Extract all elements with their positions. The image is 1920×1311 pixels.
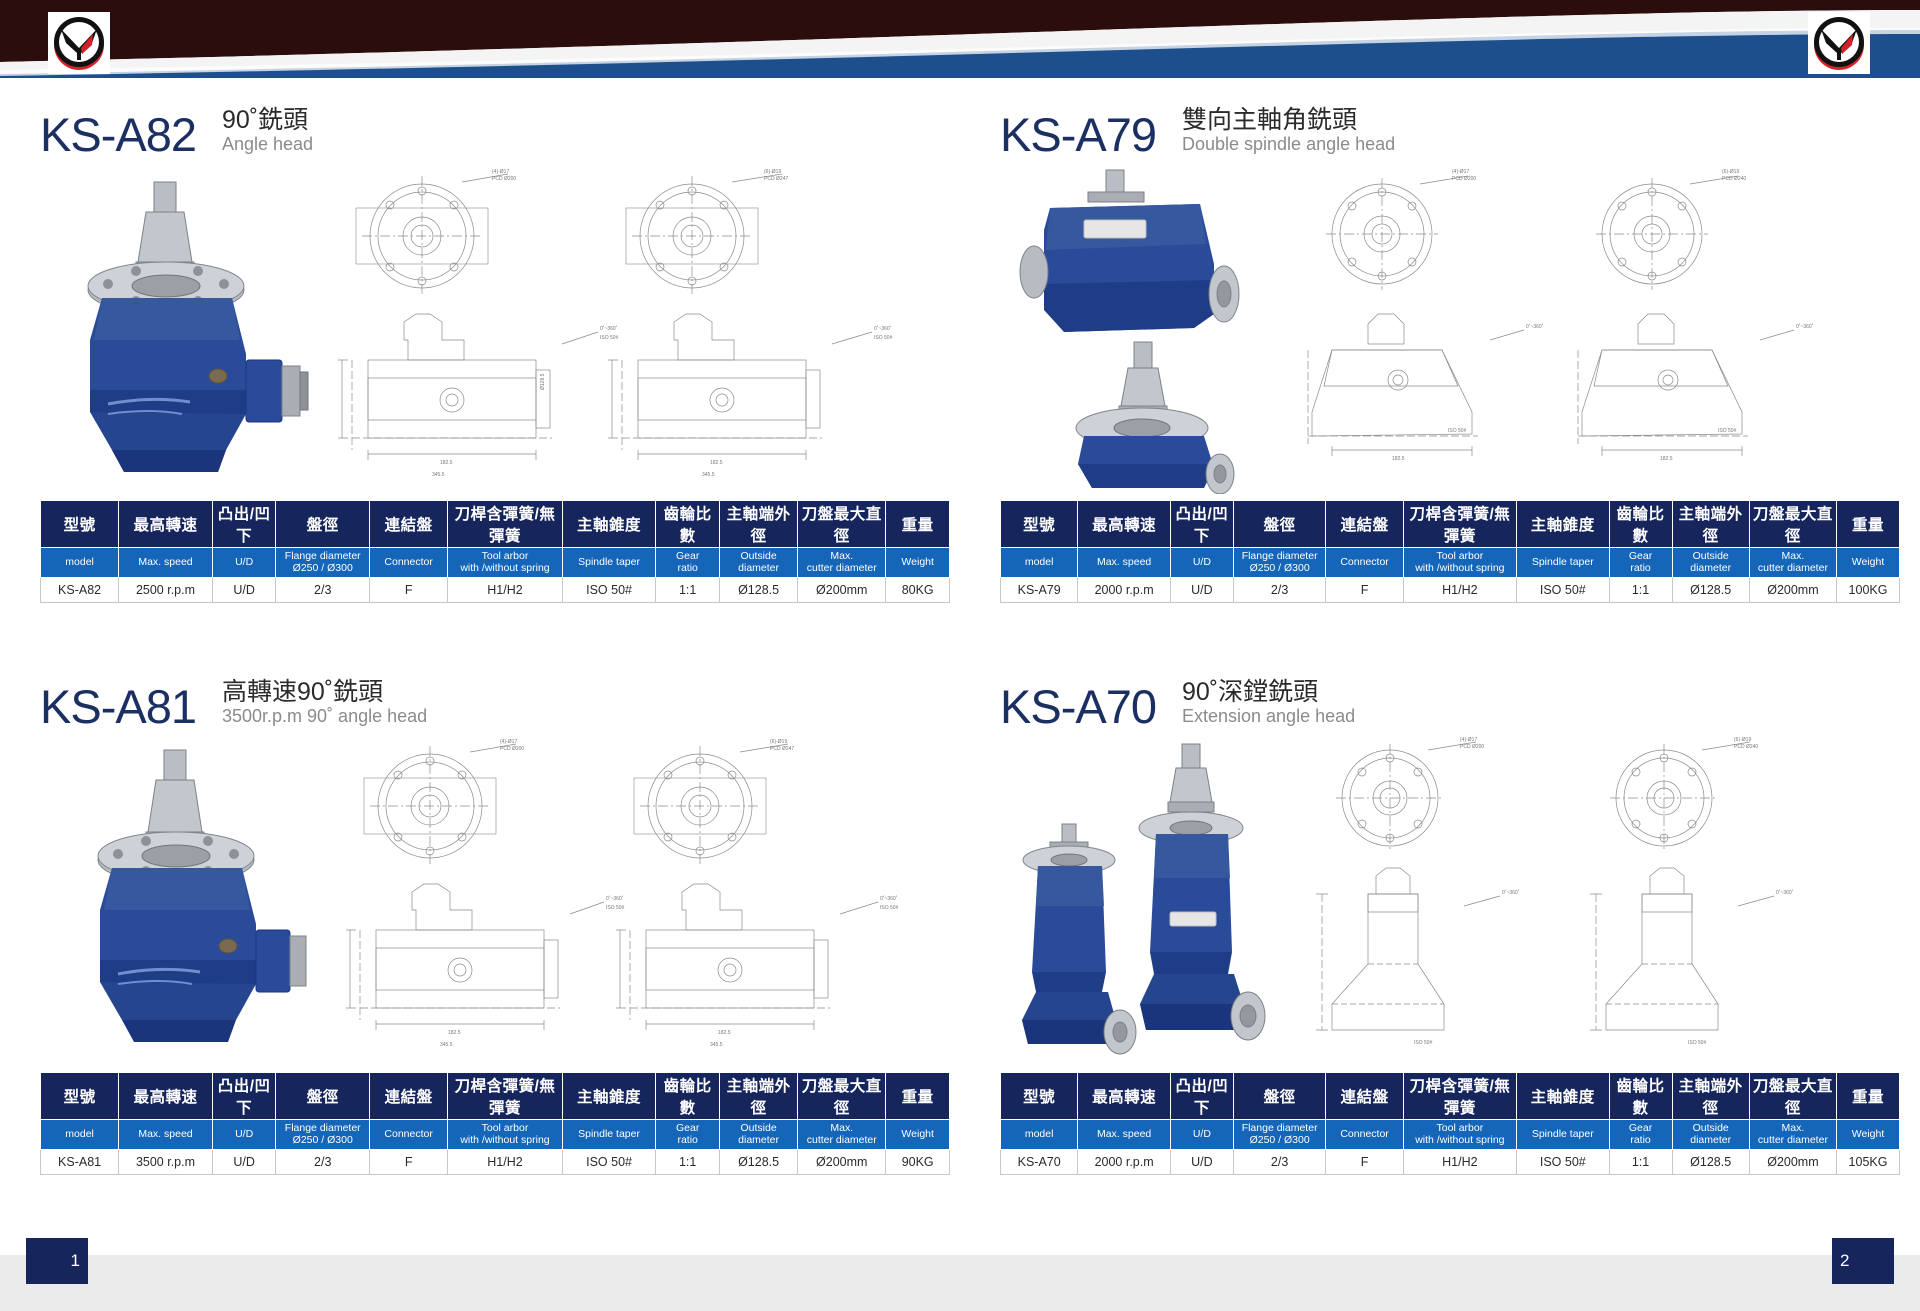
spec-th-en-gear: Gearratio [656, 548, 720, 578]
page-footer-bar [0, 1255, 1920, 1311]
spec-value-row: KS-A82 2500 r.p.m U/D 2/3 F H1/H2 ISO 50… [41, 578, 950, 603]
spec-val-model: KS-A81 [41, 1150, 119, 1175]
product-title-en: Double spindle angle head [1182, 134, 1395, 156]
spec-th-outside: 主軸端外徑 [720, 501, 798, 548]
spec-th-en-speed: Max. speed [1078, 548, 1171, 578]
product-title-row: KS-A70 90˚深鏜銑頭 Extension angle head [1000, 668, 1900, 730]
spec-val-arbor: H1/H2 [1403, 1150, 1516, 1175]
product-title-en: 3500r.p.m 90˚ angle head [222, 706, 427, 728]
spec-th-arbor: 刀桿含彈簧/無彈簧 [448, 501, 563, 548]
page-number-right: 2 [1832, 1238, 1894, 1284]
spec-val-cutter: Ø200mm [798, 1150, 886, 1175]
spec-th-en-speed: Max. speed [1078, 1120, 1171, 1150]
spec-th-en-outside: Outsidediameter [1672, 1120, 1749, 1150]
spec-th-taper: 主軸錐度 [1517, 501, 1610, 548]
product-model-code: KS-A81 [40, 683, 196, 730]
spec-th-model: 型號 [1001, 501, 1078, 548]
spec-header-en: model Max. speed U/D Flange diameterØ250… [41, 548, 950, 578]
spec-th-en-arbor: Tool arborwith /without spring [448, 548, 563, 578]
spec-val-arbor: H1/H2 [448, 578, 563, 603]
spec-th-en-model: model [41, 548, 119, 578]
spec-th-connector: 連結盤 [370, 501, 448, 548]
spec-th-en-ud: U/D [1170, 548, 1233, 578]
spec-th-en-gear: Gearratio [1609, 548, 1672, 578]
spec-th-cutter: 刀盤最大直徑 [1749, 1073, 1836, 1120]
spec-th-en-taper: Spindle taper [562, 548, 656, 578]
product-panel-ks-a81: KS-A81 高轉速90˚銑頭 3500r.p.m 90˚ angle head [40, 668, 950, 1175]
svg-text:(4)-Ø17: (4)-Ø17 [1460, 737, 1477, 743]
svg-text:0˚~360˚: 0˚~360˚ [880, 895, 898, 902]
product-photo-ks-a70 [1010, 736, 1270, 1066]
product-photo-ks-a81 [50, 736, 310, 1066]
spec-val-connector: F [1326, 1150, 1403, 1175]
spec-th-en-gear: Gearratio [656, 1120, 720, 1150]
svg-text:PCD Ø200: PCD Ø200 [492, 176, 516, 182]
product-media: (4)-Ø17PCD Ø200 (6)-Ø19PCD Ø247 182.5345… [40, 164, 950, 494]
svg-text:182.5: 182.5 [440, 460, 453, 466]
spec-th-en-arbor: Tool arborwith /without spring [1403, 1120, 1516, 1150]
svg-text:ISO 50#: ISO 50# [874, 335, 893, 341]
spec-th-taper: 主軸錐度 [562, 1073, 656, 1120]
spec-val-taper: ISO 50# [562, 578, 656, 603]
company-logo-secondary [1808, 12, 1870, 74]
spec-header-en: model Max. speed U/D Flange diameterØ250… [1001, 1120, 1900, 1150]
spec-val-flange: 2/3 [1233, 578, 1326, 603]
spec-val-speed: 2000 r.p.m [1078, 578, 1171, 603]
svg-text:PCD Ø247: PCD Ø247 [770, 746, 794, 752]
spec-table-ks-a81: 型號 最高轉速 凸出/凹下 盤徑 連結盤 刀桿含彈簧/無彈簧 主軸錐度 齒輪比數… [40, 1072, 950, 1175]
spec-val-taper: ISO 50# [562, 1150, 656, 1175]
spec-th-arbor: 刀桿含彈簧/無彈簧 [1403, 501, 1516, 548]
product-photo-ks-a79 [1010, 164, 1270, 494]
spec-val-flange: 2/3 [1233, 1150, 1326, 1175]
spec-th-en-outside: Outsidediameter [720, 1120, 798, 1150]
spec-th-en-connector: Connector [1326, 1120, 1403, 1150]
spec-val-outside: Ø128.5 [720, 1150, 798, 1175]
spec-th-flange: 盤徑 [276, 501, 370, 548]
technical-drawing-ks-a79: (4)-Ø17PCD Ø200 (6)-Ø19PCD Ø240 182.5182… [1272, 164, 1900, 494]
svg-text:0˚~360˚: 0˚~360˚ [600, 325, 618, 332]
spec-val-gear: 1:1 [1609, 1150, 1672, 1175]
spec-th-gear: 齒輪比數 [656, 501, 720, 548]
spec-th-en-model: model [1001, 548, 1078, 578]
spec-val-arbor: H1/H2 [448, 1150, 563, 1175]
spec-val-speed: 2500 r.p.m [119, 578, 213, 603]
svg-text:182.5: 182.5 [710, 460, 723, 466]
product-title-row: KS-A82 90˚銑頭 Angle head [40, 96, 950, 158]
spec-th-en-cutter: Max.cutter diameter [798, 1120, 886, 1150]
svg-text:(6)-Ø19: (6)-Ø19 [1734, 737, 1751, 743]
spec-th-en-ud: U/D [212, 548, 276, 578]
spec-val-outside: Ø128.5 [720, 578, 798, 603]
spec-th-en-connector: Connector [1326, 548, 1403, 578]
svg-text:0˚~360˚: 0˚~360˚ [1526, 323, 1544, 330]
spec-th-en-arbor: Tool arborwith /without spring [448, 1120, 563, 1150]
spec-th-model: 型號 [1001, 1073, 1078, 1120]
svg-text:(6)-Ø19: (6)-Ø19 [764, 169, 781, 175]
svg-text:0˚~360˚: 0˚~360˚ [1502, 889, 1520, 896]
spec-th-flange: 盤徑 [1233, 501, 1326, 548]
spec-th-en-arbor: Tool arborwith /without spring [1403, 548, 1516, 578]
svg-text:182.5: 182.5 [448, 1030, 461, 1036]
spec-header-cn: 型號 最高轉速 凸出/凹下 盤徑 連結盤 刀桿含彈簧/無彈簧 主軸錐度 齒輪比數… [41, 1073, 950, 1120]
product-panel-ks-a79: KS-A79 雙向主軸角銑頭 Double spindle angle head [1000, 96, 1900, 603]
spec-val-model: KS-A79 [1001, 578, 1078, 603]
spec-value-row: KS-A70 2000 r.p.m U/D 2/3 F H1/H2 ISO 50… [1001, 1150, 1900, 1175]
spec-th-weight: 重量 [886, 1073, 950, 1120]
product-media: (4)-Ø17PCD Ø200 (6)-Ø19PCD Ø240 182.5182… [1000, 164, 1900, 494]
product-media: (4)-Ø17PCD Ø200 (6)-Ø19PCD Ø247 182.5345… [40, 736, 950, 1066]
spec-th-weight: 重量 [1837, 501, 1900, 548]
svg-text:345.5: 345.5 [710, 1042, 723, 1048]
spec-val-model: KS-A70 [1001, 1150, 1078, 1175]
spec-th-cutter: 刀盤最大直徑 [798, 501, 886, 548]
svg-text:345.5: 345.5 [440, 1042, 453, 1048]
spec-th-en-model: model [41, 1120, 119, 1150]
product-title-cn: 高轉速90˚銑頭 [222, 678, 427, 706]
svg-text:ISO 50#: ISO 50# [880, 905, 899, 911]
spec-val-outside: Ø128.5 [1672, 1150, 1749, 1175]
svg-text:ISO 50#: ISO 50# [600, 335, 619, 341]
spec-val-connector: F [370, 578, 448, 603]
spec-th-en-cutter: Max.cutter diameter [798, 548, 886, 578]
spec-th-model: 型號 [41, 1073, 119, 1120]
spec-th-en-flange: Flange diameterØ250 / Ø300 [1233, 548, 1326, 578]
spec-th-speed: 最高轉速 [1078, 1073, 1171, 1120]
svg-text:PCD Ø200: PCD Ø200 [500, 746, 524, 752]
spec-th-gear: 齒輪比數 [1609, 501, 1672, 548]
spec-table-ks-a82: 型號 最高轉速 凸出/凹下 盤徑 連結盤 刀桿含彈簧/無彈簧 主軸錐度 齒輪比數… [40, 500, 950, 603]
spec-val-gear: 1:1 [1609, 578, 1672, 603]
spec-th-arbor: 刀桿含彈簧/無彈簧 [448, 1073, 563, 1120]
spec-th-en-flange: Flange diameterØ250 / Ø300 [1233, 1120, 1326, 1150]
product-title-cn: 90˚深鏜銑頭 [1182, 678, 1355, 706]
svg-text:0˚~360˚: 0˚~360˚ [1776, 889, 1794, 896]
svg-text:0˚~360˚: 0˚~360˚ [606, 895, 624, 902]
spec-header-cn: 型號 最高轉速 凸出/凹下 盤徑 連結盤 刀桿含彈簧/無彈簧 主軸錐度 齒輪比數… [1001, 501, 1900, 548]
spec-val-speed: 3500 r.p.m [119, 1150, 213, 1175]
spec-val-arbor: H1/H2 [1403, 578, 1516, 603]
svg-text:ISO 50#: ISO 50# [1718, 428, 1737, 434]
svg-text:182.5: 182.5 [718, 1030, 731, 1036]
svg-text:ISO 50#: ISO 50# [1448, 428, 1467, 434]
spec-val-taper: ISO 50# [1517, 578, 1610, 603]
svg-text:ISO 50#: ISO 50# [1688, 1040, 1707, 1046]
spec-th-ud: 凸出/凹下 [212, 1073, 276, 1120]
product-title-cn: 90˚銑頭 [222, 106, 313, 134]
spec-val-ud: U/D [212, 1150, 276, 1175]
spec-th-en-taper: Spindle taper [1517, 548, 1610, 578]
spec-val-weight: 90KG [886, 1150, 950, 1175]
spec-val-gear: 1:1 [656, 1150, 720, 1175]
svg-text:(4)-Ø17: (4)-Ø17 [500, 739, 517, 745]
spec-val-weight: 100KG [1837, 578, 1900, 603]
spec-th-en-model: model [1001, 1120, 1078, 1150]
spec-th-en-cutter: Max.cutter diameter [1749, 548, 1836, 578]
page-header-band [0, 0, 1920, 78]
spec-th-outside: 主軸端外徑 [1672, 1073, 1749, 1120]
spec-th-en-outside: Outsidediameter [720, 548, 798, 578]
spec-th-taper: 主軸錐度 [1517, 1073, 1610, 1120]
spec-th-flange: 盤徑 [1233, 1073, 1326, 1120]
product-title-en: Extension angle head [1182, 706, 1355, 728]
svg-text:ISO 50#: ISO 50# [606, 905, 625, 911]
svg-text:(6)-Ø19: (6)-Ø19 [1722, 169, 1739, 175]
spec-th-en-cutter: Max.cutter diameter [1749, 1120, 1836, 1150]
spec-th-arbor: 刀桿含彈簧/無彈簧 [1403, 1073, 1516, 1120]
spec-th-taper: 主軸錐度 [562, 501, 656, 548]
spec-val-weight: 105KG [1837, 1150, 1900, 1175]
spec-th-en-taper: Spindle taper [1517, 1120, 1610, 1150]
svg-text:ISO 50#: ISO 50# [1414, 1040, 1433, 1046]
spec-val-speed: 2000 r.p.m [1078, 1150, 1171, 1175]
spec-th-model: 型號 [41, 501, 119, 548]
svg-text:(4)-Ø17: (4)-Ø17 [492, 169, 509, 175]
company-logo [48, 12, 110, 74]
spec-th-cutter: 刀盤最大直徑 [1749, 501, 1836, 548]
spec-val-model: KS-A82 [41, 578, 119, 603]
svg-text:182.5: 182.5 [1392, 456, 1405, 462]
page-number-left: 1 [26, 1238, 88, 1284]
spec-th-en-ud: U/D [212, 1120, 276, 1150]
spec-th-speed: 最高轉速 [119, 501, 213, 548]
svg-text:PCD Ø240: PCD Ø240 [1734, 744, 1758, 750]
product-title-row: KS-A79 雙向主軸角銑頭 Double spindle angle head [1000, 96, 1900, 158]
svg-text:PCD Ø200: PCD Ø200 [1452, 176, 1476, 182]
spec-val-flange: 2/3 [276, 578, 370, 603]
spec-val-outside: Ø128.5 [1672, 578, 1749, 603]
spec-th-en-weight: Weight [886, 1120, 950, 1150]
svg-text:(4)-Ø17: (4)-Ø17 [1452, 169, 1469, 175]
technical-drawing-ks-a81: (4)-Ø17PCD Ø200 (6)-Ø19PCD Ø247 182.5345… [312, 736, 950, 1066]
technical-drawing-ks-a82: (4)-Ø17PCD Ø200 (6)-Ø19PCD Ø247 182.5345… [312, 164, 950, 494]
spec-th-gear: 齒輪比數 [1609, 1073, 1672, 1120]
spec-th-ud: 凸出/凹下 [212, 501, 276, 548]
spec-val-gear: 1:1 [656, 578, 720, 603]
svg-text:PCD Ø200: PCD Ø200 [1460, 744, 1484, 750]
catalog-sheet: KS-A82 90˚銑頭 Angle head [0, 78, 1920, 1238]
spec-th-en-weight: Weight [1837, 1120, 1900, 1150]
spec-th-weight: 重量 [1837, 1073, 1900, 1120]
spec-val-weight: 80KG [886, 578, 950, 603]
svg-text:345.5: 345.5 [432, 472, 445, 478]
spec-th-en-speed: Max. speed [119, 1120, 213, 1150]
spec-th-outside: 主軸端外徑 [1672, 501, 1749, 548]
svg-text:Ø128.5: Ø128.5 [540, 373, 546, 390]
spec-th-en-flange: Flange diameterØ250 / Ø300 [276, 1120, 370, 1150]
spec-th-speed: 最高轉速 [119, 1073, 213, 1120]
product-model-code: KS-A82 [40, 111, 196, 158]
spec-value-row: KS-A81 3500 r.p.m U/D 2/3 F H1/H2 ISO 50… [41, 1150, 950, 1175]
spec-header-cn: 型號 最高轉速 凸出/凹下 盤徑 連結盤 刀桿含彈簧/無彈簧 主軸錐度 齒輪比數… [41, 501, 950, 548]
spec-th-en-connector: Connector [370, 548, 448, 578]
spec-val-cutter: Ø200mm [1749, 578, 1836, 603]
product-title-en: Angle head [222, 134, 313, 156]
spec-th-connector: 連結盤 [1326, 501, 1403, 548]
spec-th-gear: 齒輪比數 [656, 1073, 720, 1120]
spec-th-connector: 連結盤 [370, 1073, 448, 1120]
spec-header-en: model Max. speed U/D Flange diameterØ250… [1001, 548, 1900, 578]
spec-th-en-speed: Max. speed [119, 548, 213, 578]
spec-th-en-taper: Spindle taper [562, 1120, 656, 1150]
svg-text:345.5: 345.5 [702, 472, 715, 478]
spec-th-en-weight: Weight [1837, 548, 1900, 578]
product-panel-ks-a70: KS-A70 90˚深鏜銑頭 Extension angle head [1000, 668, 1900, 1175]
svg-text:0˚~360˚: 0˚~360˚ [874, 325, 892, 332]
spec-th-flange: 盤徑 [276, 1073, 370, 1120]
product-panel-ks-a82: KS-A82 90˚銑頭 Angle head [40, 96, 950, 603]
spec-th-outside: 主軸端外徑 [720, 1073, 798, 1120]
product-title-row: KS-A81 高轉速90˚銑頭 3500r.p.m 90˚ angle head [40, 668, 950, 730]
spec-th-ud: 凸出/凹下 [1170, 501, 1233, 548]
spec-val-connector: F [370, 1150, 448, 1175]
spec-th-en-gear: Gearratio [1609, 1120, 1672, 1150]
spec-val-cutter: Ø200mm [798, 578, 886, 603]
spec-th-en-connector: Connector [370, 1120, 448, 1150]
spec-value-row: KS-A79 2000 r.p.m U/D 2/3 F H1/H2 ISO 50… [1001, 578, 1900, 603]
spec-th-connector: 連結盤 [1326, 1073, 1403, 1120]
spec-val-ud: U/D [1170, 578, 1233, 603]
spec-val-flange: 2/3 [276, 1150, 370, 1175]
spec-th-en-ud: U/D [1170, 1120, 1233, 1150]
spec-table-ks-a79: 型號 最高轉速 凸出/凹下 盤徑 連結盤 刀桿含彈簧/無彈簧 主軸錐度 齒輪比數… [1000, 500, 1900, 603]
spec-header-cn: 型號 最高轉速 凸出/凹下 盤徑 連結盤 刀桿含彈簧/無彈簧 主軸錐度 齒輪比數… [1001, 1073, 1900, 1120]
svg-text:PCD Ø247: PCD Ø247 [764, 176, 788, 182]
svg-text:182.5: 182.5 [1660, 456, 1673, 462]
svg-text:(6)-Ø19: (6)-Ø19 [770, 739, 787, 745]
svg-text:PCD Ø240: PCD Ø240 [1722, 176, 1746, 182]
spec-val-connector: F [1326, 578, 1403, 603]
spec-val-ud: U/D [1170, 1150, 1233, 1175]
product-title-cn: 雙向主軸角銑頭 [1182, 106, 1395, 134]
spec-th-ud: 凸出/凹下 [1170, 1073, 1233, 1120]
spec-th-weight: 重量 [886, 501, 950, 548]
svg-text:0˚~360˚: 0˚~360˚ [1796, 323, 1814, 330]
product-model-code: KS-A70 [1000, 683, 1156, 730]
spec-th-en-weight: Weight [886, 548, 950, 578]
spec-val-ud: U/D [212, 578, 276, 603]
technical-drawing-ks-a70: (4)-Ø17PCD Ø200 (6)-Ø19PCD Ø240 0˚~360˚0… [1272, 736, 1900, 1066]
spec-header-en: model Max. speed U/D Flange diameterØ250… [41, 1120, 950, 1150]
spec-table-ks-a70: 型號 最高轉速 凸出/凹下 盤徑 連結盤 刀桿含彈簧/無彈簧 主軸錐度 齒輪比數… [1000, 1072, 1900, 1175]
spec-th-cutter: 刀盤最大直徑 [798, 1073, 886, 1120]
product-media: (4)-Ø17PCD Ø200 (6)-Ø19PCD Ø240 0˚~360˚0… [1000, 736, 1900, 1066]
spec-val-taper: ISO 50# [1517, 1150, 1610, 1175]
spec-val-cutter: Ø200mm [1749, 1150, 1836, 1175]
spec-th-en-outside: Outsidediameter [1672, 548, 1749, 578]
product-model-code: KS-A79 [1000, 111, 1156, 158]
product-photo-ks-a82 [50, 164, 310, 494]
spec-th-speed: 最高轉速 [1078, 501, 1171, 548]
spec-th-en-flange: Flange diameterØ250 / Ø300 [276, 548, 370, 578]
